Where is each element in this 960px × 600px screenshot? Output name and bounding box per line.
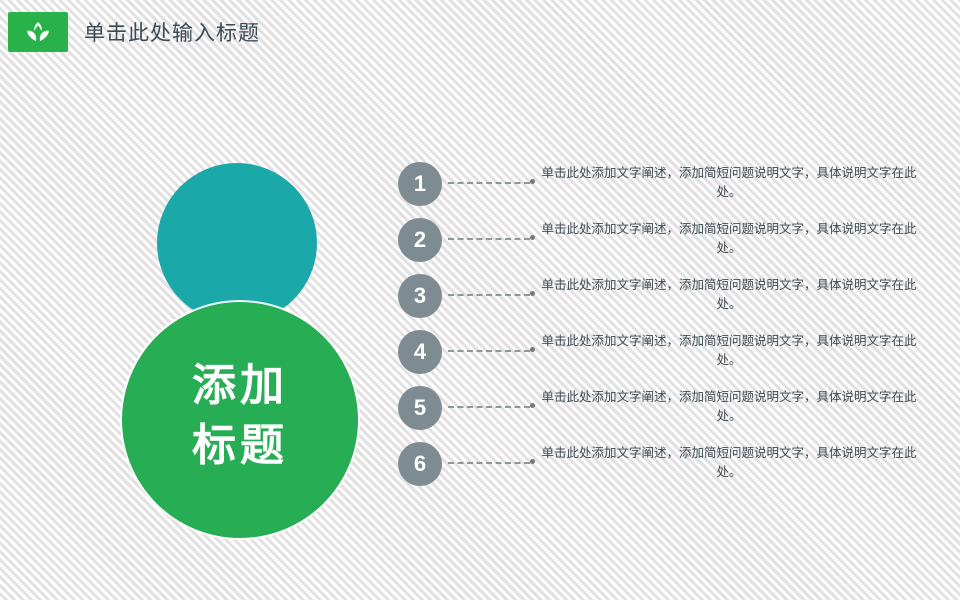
main-circle-label-line2: 标题 [122, 416, 358, 476]
list-item[interactable]: 4 单击此处添加文字阐述，添加简短问题说明文字，具体说明文字在此处。 [398, 330, 938, 386]
list-item[interactable]: 3 单击此处添加文字阐述，添加简短问题说明文字，具体说明文字在此处。 [398, 274, 938, 330]
list-item[interactable]: 5 单击此处添加文字阐述，添加简短问题说明文字，具体说明文字在此处。 [398, 386, 938, 442]
list-item[interactable]: 1 单击此处添加文字阐述，添加简短问题说明文字，具体说明文字在此处。 [398, 162, 938, 218]
connector-dashes [448, 182, 530, 186]
connector-dot [530, 403, 535, 408]
page-title: 单击此处输入标题 [84, 17, 260, 47]
list-item-number: 1 [398, 162, 442, 206]
list-item[interactable]: 6 单击此处添加文字阐述，添加简短问题说明文字，具体说明文字在此处。 [398, 442, 938, 498]
connector-dot [530, 179, 535, 184]
connector-dot [530, 291, 535, 296]
slide-canvas: 单击此处输入标题 添加 标题 1 单击此处添加文字阐述，添加简短问题说明文字，具… [0, 0, 960, 600]
list-item-text: 单击此处添加文字阐述，添加简短问题说明文字，具体说明文字在此处。 [540, 164, 918, 202]
leaf-hands-icon [25, 20, 51, 44]
connector-dashes [448, 350, 530, 354]
list-item-number: 6 [398, 442, 442, 486]
slide-header: 单击此处输入标题 [0, 8, 960, 50]
list-item-text: 单击此处添加文字阐述，添加简短问题说明文字，具体说明文字在此处。 [540, 444, 918, 482]
main-green-circle[interactable]: 添加 标题 [122, 302, 358, 538]
connector-dot [530, 235, 535, 240]
list-item-number: 5 [398, 386, 442, 430]
main-circle-label: 添加 标题 [122, 356, 358, 476]
connector-dot [530, 347, 535, 352]
decorative-teal-circle [157, 163, 317, 323]
list-item-text: 单击此处添加文字阐述，添加简短问题说明文字，具体说明文字在此处。 [540, 220, 918, 258]
list-item-number: 3 [398, 274, 442, 318]
list-item-number: 2 [398, 218, 442, 262]
connector-dashes [448, 294, 530, 298]
list-item-text: 单击此处添加文字阐述，添加简短问题说明文字，具体说明文字在此处。 [540, 276, 918, 314]
connector-dashes [448, 462, 530, 466]
bullet-list: 1 单击此处添加文字阐述，添加简短问题说明文字，具体说明文字在此处。 2 单击此… [398, 162, 938, 498]
list-item-number: 4 [398, 330, 442, 374]
list-item-text: 单击此处添加文字阐述，添加简短问题说明文字，具体说明文字在此处。 [540, 388, 918, 426]
connector-dashes [448, 238, 530, 242]
connector-dashes [448, 406, 530, 410]
main-circle-label-line1: 添加 [122, 356, 358, 416]
logo-badge [8, 12, 68, 52]
list-item-text: 单击此处添加文字阐述，添加简短问题说明文字，具体说明文字在此处。 [540, 332, 918, 370]
list-item[interactable]: 2 单击此处添加文字阐述，添加简短问题说明文字，具体说明文字在此处。 [398, 218, 938, 274]
connector-dot [530, 459, 535, 464]
